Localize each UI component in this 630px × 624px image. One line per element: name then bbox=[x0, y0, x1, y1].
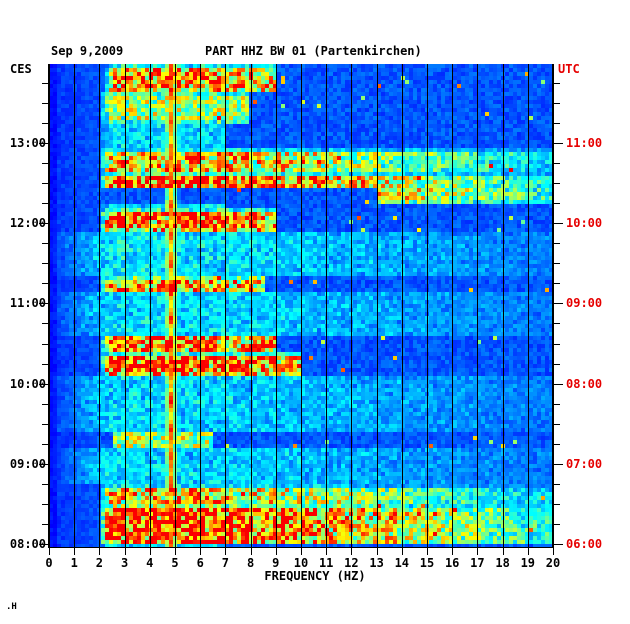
left-axis-caption-ces: CES bbox=[10, 62, 32, 76]
right-tick bbox=[554, 123, 560, 124]
left-tick bbox=[42, 344, 48, 345]
xtick-label-11: 11 bbox=[314, 556, 338, 570]
xtick-label-16: 16 bbox=[440, 556, 464, 570]
left-tick bbox=[42, 504, 48, 505]
left-time-label-1100: 11:00 bbox=[0, 296, 46, 310]
xtick-label-10: 10 bbox=[289, 556, 313, 570]
xtick-0 bbox=[49, 548, 50, 555]
xtick-10 bbox=[301, 548, 302, 555]
right-tick bbox=[554, 303, 563, 304]
xtick-2 bbox=[99, 548, 100, 555]
left-tick bbox=[42, 424, 48, 425]
xtick-label-8: 8 bbox=[239, 556, 263, 570]
right-time-label-0600: 06:00 bbox=[566, 537, 602, 551]
right-time-label-1000: 10:00 bbox=[566, 216, 602, 230]
xtick-label-19: 19 bbox=[516, 556, 540, 570]
xtick-13 bbox=[377, 548, 378, 555]
left-tick bbox=[42, 103, 48, 104]
plot-right-border bbox=[553, 64, 554, 547]
left-tick bbox=[42, 323, 48, 324]
xtick-label-6: 6 bbox=[188, 556, 212, 570]
right-tick bbox=[554, 283, 560, 284]
left-tick bbox=[42, 283, 48, 284]
xtick-label-1: 1 bbox=[62, 556, 86, 570]
right-tick bbox=[554, 404, 560, 405]
right-tick bbox=[554, 424, 560, 425]
right-tick bbox=[554, 183, 560, 184]
right-tick bbox=[554, 464, 563, 465]
right-tick bbox=[554, 524, 560, 525]
right-tick bbox=[554, 484, 560, 485]
xtick-label-12: 12 bbox=[339, 556, 363, 570]
right-axis-caption-utc: UTC bbox=[558, 62, 580, 76]
xtick-11 bbox=[326, 548, 327, 555]
station-title: PART HHZ BW 01 (Partenkirchen) bbox=[205, 44, 422, 58]
right-time-label-0700: 07:00 bbox=[566, 457, 602, 471]
right-tick bbox=[554, 83, 560, 84]
right-tick bbox=[554, 103, 560, 104]
left-tick bbox=[42, 524, 48, 525]
xtick-4 bbox=[150, 548, 151, 555]
xtick-label-15: 15 bbox=[415, 556, 439, 570]
xaxis-title: FREQUENCY (HZ) bbox=[0, 569, 630, 583]
plot-left-border bbox=[48, 64, 49, 547]
right-tick bbox=[554, 504, 560, 505]
xtick-label-2: 2 bbox=[87, 556, 111, 570]
left-tick bbox=[42, 83, 48, 84]
xtick-7 bbox=[225, 548, 226, 555]
right-time-label-1100: 11:00 bbox=[566, 136, 602, 150]
xtick-17 bbox=[477, 548, 478, 555]
xtick-label-7: 7 bbox=[213, 556, 237, 570]
left-tick bbox=[42, 163, 48, 164]
xtick-15 bbox=[427, 548, 428, 555]
left-time-label-0900: 09:00 bbox=[0, 457, 46, 471]
right-tick bbox=[554, 323, 560, 324]
xtick-6 bbox=[200, 548, 201, 555]
xtick-label-17: 17 bbox=[465, 556, 489, 570]
right-tick bbox=[554, 444, 560, 445]
xtick-14 bbox=[402, 548, 403, 555]
left-tick bbox=[42, 263, 48, 264]
xtick-3 bbox=[125, 548, 126, 555]
right-tick bbox=[554, 344, 560, 345]
xtick-label-13: 13 bbox=[365, 556, 389, 570]
xtick-19 bbox=[528, 548, 529, 555]
left-tick bbox=[42, 364, 48, 365]
xtick-20 bbox=[553, 548, 554, 555]
right-tick bbox=[554, 143, 563, 144]
xtick-1 bbox=[74, 548, 75, 555]
left-time-label-0800: 08:00 bbox=[0, 537, 46, 551]
right-tick bbox=[554, 263, 560, 264]
right-tick bbox=[554, 364, 560, 365]
xtick-label-5: 5 bbox=[163, 556, 187, 570]
xtick-8 bbox=[251, 548, 252, 555]
right-tick bbox=[554, 544, 563, 545]
right-tick bbox=[554, 223, 563, 224]
left-time-label-1200: 12:00 bbox=[0, 216, 46, 230]
spectrogram-page: Sep 9,2009 PART HHZ BW 01 (Partenkirchen… bbox=[0, 0, 630, 624]
right-tick bbox=[554, 203, 560, 204]
right-tick bbox=[554, 384, 563, 385]
spectrogram-canvas bbox=[49, 64, 553, 547]
xtick-16 bbox=[452, 548, 453, 555]
xtick-label-14: 14 bbox=[390, 556, 414, 570]
date-label: Sep 9,2009 bbox=[51, 44, 123, 58]
left-time-label-1300: 13:00 bbox=[0, 136, 46, 150]
left-tick bbox=[42, 484, 48, 485]
xtick-label-9: 9 bbox=[264, 556, 288, 570]
xtick-label-4: 4 bbox=[138, 556, 162, 570]
left-tick bbox=[42, 123, 48, 124]
xtick-9 bbox=[276, 548, 277, 555]
right-time-label-0900: 09:00 bbox=[566, 296, 602, 310]
left-tick bbox=[42, 444, 48, 445]
xtick-label-3: 3 bbox=[113, 556, 137, 570]
xtick-12 bbox=[351, 548, 352, 555]
xtick-label-20: 20 bbox=[541, 556, 565, 570]
left-tick bbox=[42, 243, 48, 244]
left-tick bbox=[42, 404, 48, 405]
xtick-label-0: 0 bbox=[37, 556, 61, 570]
left-tick bbox=[42, 203, 48, 204]
right-time-label-0800: 08:00 bbox=[566, 377, 602, 391]
xtick-5 bbox=[175, 548, 176, 555]
left-tick bbox=[42, 183, 48, 184]
xtick-label-18: 18 bbox=[491, 556, 515, 570]
right-tick bbox=[554, 243, 560, 244]
xtick-18 bbox=[503, 548, 504, 555]
corner-artifact-glyph: .H bbox=[6, 602, 17, 612]
left-time-label-1000: 10:00 bbox=[0, 377, 46, 391]
right-tick bbox=[554, 163, 560, 164]
spectrogram-plot[interactable] bbox=[49, 64, 553, 547]
